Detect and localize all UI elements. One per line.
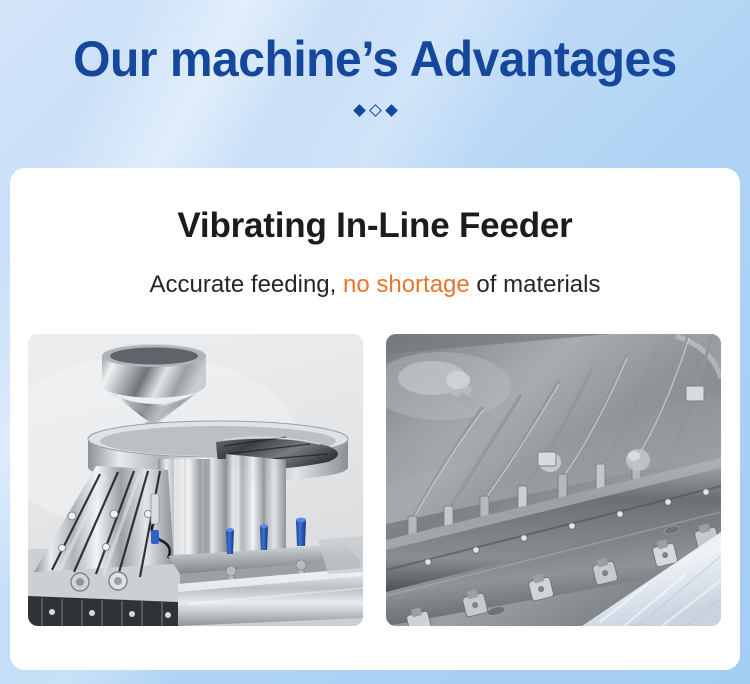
diamond-divider [0, 100, 750, 120]
feature-subheading: Accurate feeding, no shortage of materia… [10, 270, 740, 300]
diamond-solid-right-icon [385, 104, 398, 117]
subheading-prefix: Accurate feeding, [150, 271, 343, 298]
diamond-hollow-center-icon [369, 104, 382, 117]
subheading-highlight: no shortage [343, 271, 470, 298]
subheading-suffix: of materials [470, 271, 601, 298]
promotional-banner: Our machine’s Advantages Vibrating In-Li… [0, 0, 750, 684]
page-title: Our machine’s Advantages [15, 30, 735, 88]
multihead-weigher-photo [28, 334, 363, 626]
feature-heading: Vibrating In-Line Feeder [10, 205, 740, 247]
feature-card: Vibrating In-Line Feeder Accurate feedin… [10, 168, 740, 670]
photo-gallery [28, 334, 722, 626]
in-line-feeder-tray-photo [386, 334, 721, 626]
banner-header: Our machine’s Advantages [0, 0, 750, 168]
diamond-solid-left-icon [353, 104, 366, 117]
